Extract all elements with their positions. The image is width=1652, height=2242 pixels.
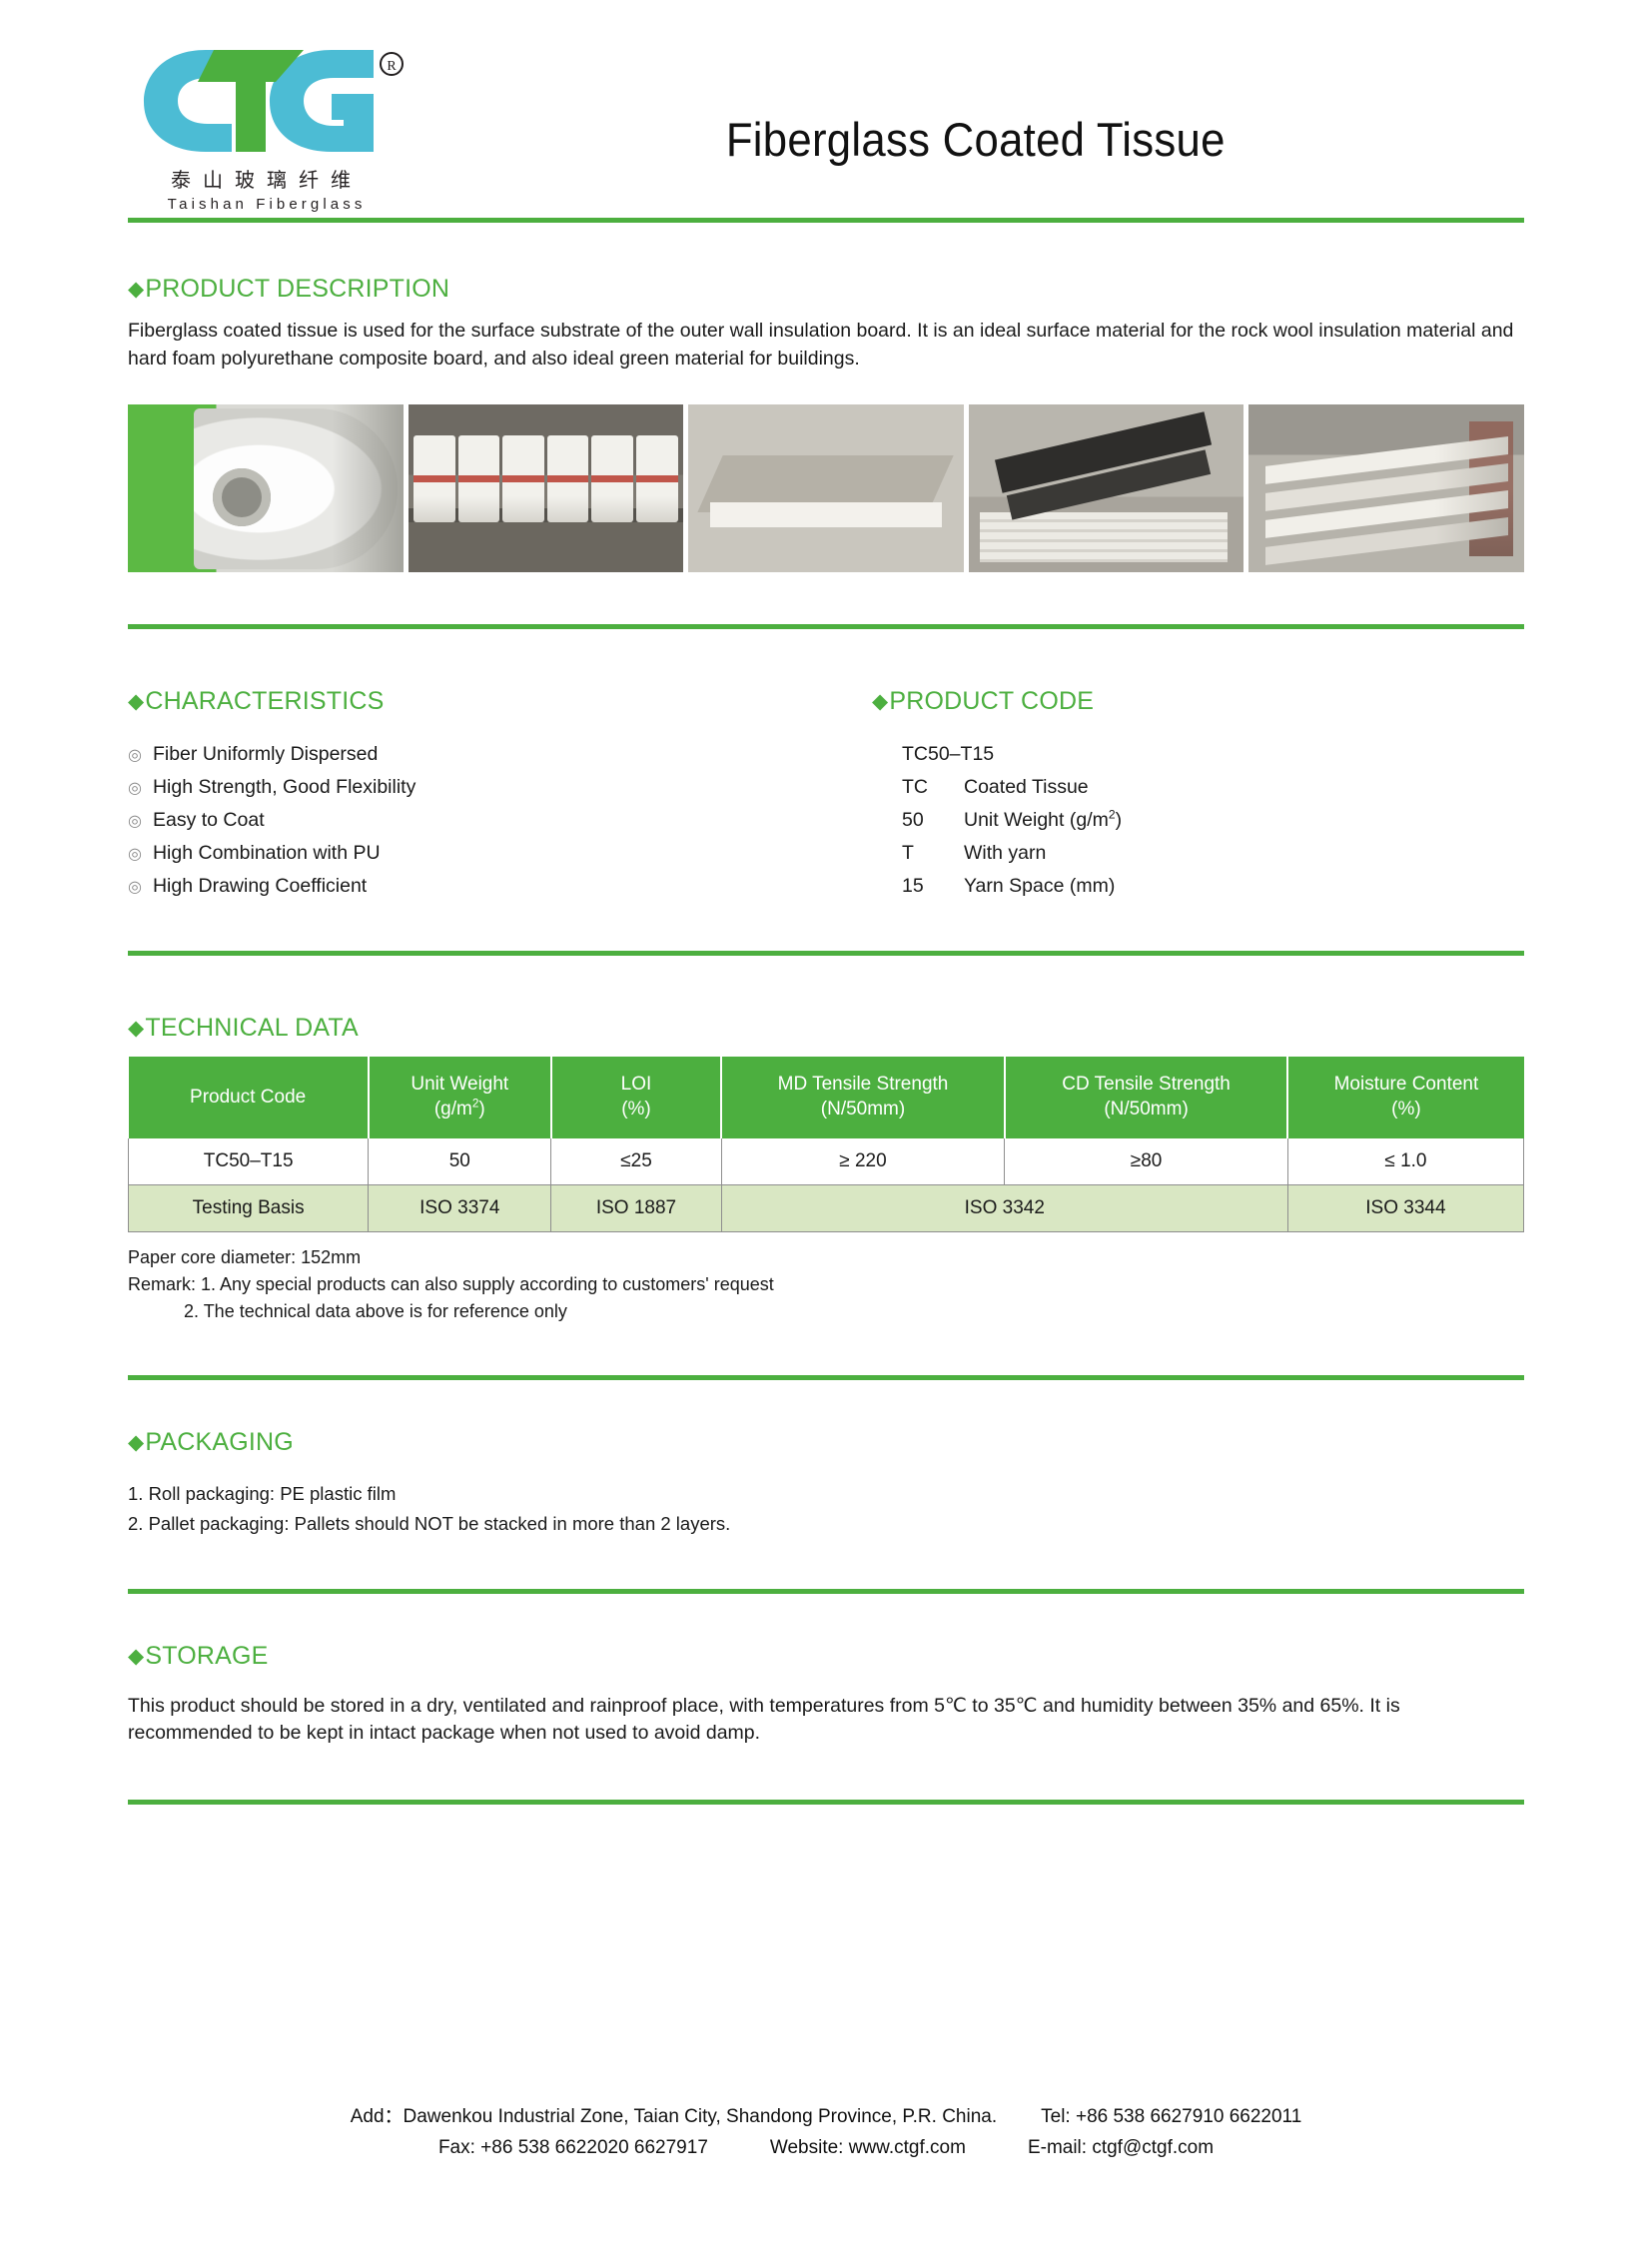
storage-text: This product should be stored in a dry, … bbox=[128, 1693, 1524, 1748]
cell-basis-loi: ISO 1887 bbox=[551, 1184, 721, 1231]
list-item: T With yarn bbox=[902, 837, 1524, 870]
code-meaning: With yarn bbox=[964, 837, 1046, 870]
fax-text: Fax: +86 538 6622020 6627917 bbox=[438, 2133, 708, 2164]
warehouse-rolls-photo bbox=[409, 404, 684, 572]
ring-bullet-icon: ◎ bbox=[128, 813, 142, 829]
header-divider bbox=[128, 218, 1524, 223]
ring-bullet-icon: ◎ bbox=[128, 846, 142, 862]
ctg-logo-icon: R bbox=[136, 42, 408, 160]
stacked-panels-photo bbox=[1248, 404, 1524, 572]
column-header-unit-weight: Unit Weight(g/m2) bbox=[369, 1057, 551, 1137]
column-header-product-code: Product Code bbox=[129, 1057, 369, 1137]
product-description-heading: ◆ PRODUCT DESCRIPTION bbox=[128, 275, 1524, 304]
page-title: Fiberglass Coated Tissue bbox=[726, 112, 1226, 167]
address-label: Add： bbox=[351, 2102, 404, 2133]
technical-data-notes: Paper core diameter: 152mm Remark: 1. An… bbox=[128, 1244, 1524, 1325]
column-header-moisture: Moisture Content(%) bbox=[1287, 1057, 1523, 1137]
list-item-label: Fiber Uniformly Dispersed bbox=[153, 738, 378, 771]
cell-basis-tensile: ISO 3342 bbox=[721, 1184, 1287, 1231]
storage-divider bbox=[128, 1800, 1524, 1805]
characteristics-list: ◎ Fiber Uniformly Dispersed ◎ High Stren… bbox=[128, 738, 872, 903]
diamond-bullet-icon: ◆ bbox=[872, 691, 888, 712]
packaging-section: ◆ PACKAGING 1. Roll packaging: PE plasti… bbox=[128, 1428, 1524, 1539]
diamond-bullet-icon: ◆ bbox=[128, 1432, 144, 1453]
list-item-label: Easy to Coat bbox=[153, 804, 265, 837]
characteristics-and-code: ◆ CHARACTERISTICS ◎ Fiber Uniformly Disp… bbox=[128, 687, 1524, 903]
section-title-text: PRODUCT CODE bbox=[889, 687, 1094, 716]
list-item-label: High Strength, Good Flexibility bbox=[153, 771, 415, 804]
column-header-md-tensile: MD Tensile Strength(N/50mm) bbox=[721, 1057, 1005, 1137]
logo-chinese-name: 泰山玻璃纤维 bbox=[136, 164, 398, 193]
list-item-label: High Drawing Coefficient bbox=[153, 870, 367, 903]
company-logo: R 泰山玻璃纤维 Taishan Fiberglass bbox=[128, 42, 427, 213]
logo-english-name: Taishan Fiberglass bbox=[136, 196, 398, 213]
storage-section: ◆ STORAGE This product should be stored … bbox=[128, 1642, 1524, 1748]
list-item: ◎ Easy to Coat bbox=[128, 804, 872, 837]
characteristics-heading: ◆ CHARACTERISTICS bbox=[128, 687, 872, 716]
diamond-bullet-icon: ◆ bbox=[128, 279, 144, 300]
dark-panel-photo bbox=[969, 404, 1244, 572]
email-text[interactable]: E-mail: ctgf@ctgf.com bbox=[1028, 2133, 1214, 2164]
cell-testing-basis-label: Testing Basis bbox=[129, 1184, 369, 1231]
cell-moisture: ≤ 1.0 bbox=[1287, 1138, 1523, 1185]
code-key: TC bbox=[902, 771, 964, 804]
footer-line-1: Add： Dawenkou Industrial Zone, Taian Cit… bbox=[128, 2102, 1524, 2133]
code-meaning: Unit Weight (g/m2) bbox=[964, 804, 1122, 837]
svg-text:R: R bbox=[387, 59, 397, 74]
ring-bullet-icon: ◎ bbox=[128, 879, 142, 895]
ring-bullet-icon: ◎ bbox=[128, 747, 142, 763]
column-header-loi: LOI(%) bbox=[551, 1057, 721, 1137]
packaging-line-2: 2. Pallet packaging: Pallets should NOT … bbox=[128, 1509, 1524, 1539]
note-remark-1: Remark: 1. Any special products can also… bbox=[128, 1271, 1524, 1298]
section-title-text: CHARACTERISTICS bbox=[145, 687, 384, 716]
tissue-roll-photo bbox=[128, 404, 404, 572]
description-divider bbox=[128, 624, 1524, 629]
section-title-text: PACKAGING bbox=[145, 1428, 294, 1457]
code-key: 50 bbox=[902, 804, 964, 837]
code-meaning: Yarn Space (mm) bbox=[964, 870, 1115, 903]
footer-line-2: Fax: +86 538 6622020 6627917 Website: ww… bbox=[128, 2133, 1524, 2164]
list-item: 50 Unit Weight (g/m2) bbox=[902, 804, 1524, 837]
cell-basis-moisture: ISO 3344 bbox=[1287, 1184, 1523, 1231]
list-item-label: High Combination with PU bbox=[153, 837, 381, 870]
technical-data-table: Product Code Unit Weight(g/m2) LOI(%) MD… bbox=[128, 1057, 1524, 1231]
cell-md-tensile: ≥ 220 bbox=[721, 1138, 1005, 1185]
characteristics-divider bbox=[128, 951, 1524, 956]
section-title-text: PRODUCT DESCRIPTION bbox=[145, 275, 449, 304]
packaging-divider bbox=[128, 1589, 1524, 1594]
cell-unit-weight: 50 bbox=[369, 1138, 551, 1185]
list-item: ◎ Fiber Uniformly Dispersed bbox=[128, 738, 872, 771]
diamond-bullet-icon: ◆ bbox=[128, 691, 144, 712]
technical-data-section: ◆ TECHNICAL DATA Product Code Unit Weigh… bbox=[128, 1014, 1524, 1324]
product-code-legend: TC Coated Tissue 50 Unit Weight (g/m2) T… bbox=[872, 771, 1524, 903]
table-header-row: Product Code Unit Weight(g/m2) LOI(%) MD… bbox=[129, 1057, 1524, 1137]
section-title-text: STORAGE bbox=[145, 1642, 268, 1671]
note-remark-2: 2. The technical data above is for refer… bbox=[128, 1298, 1524, 1325]
list-item: ◎ High Strength, Good Flexibility bbox=[128, 771, 872, 804]
list-item: TC Coated Tissue bbox=[902, 771, 1524, 804]
page-header: R 泰山玻璃纤维 Taishan Fiberglass Fiberglass C… bbox=[128, 0, 1524, 218]
website-text[interactable]: Website: www.ctgf.com bbox=[770, 2133, 966, 2164]
ring-bullet-icon: ◎ bbox=[128, 780, 142, 796]
diamond-bullet-icon: ◆ bbox=[128, 1646, 144, 1667]
cell-product-code: TC50–T15 bbox=[129, 1138, 369, 1185]
table-row: Testing Basis ISO 3374 ISO 1887 ISO 3342… bbox=[129, 1184, 1524, 1231]
diamond-bullet-icon: ◆ bbox=[128, 1018, 144, 1039]
packaging-heading: ◆ PACKAGING bbox=[128, 1428, 1524, 1457]
table-row: TC50–T15 50 ≤25 ≥ 220 ≥80 ≤ 1.0 bbox=[129, 1138, 1524, 1185]
code-meaning: Coated Tissue bbox=[964, 771, 1089, 804]
code-key: T bbox=[902, 837, 964, 870]
product-description-text: Fiberglass coated tissue is used for the… bbox=[128, 318, 1524, 373]
address-text: Dawenkou Industrial Zone, Taian City, Sh… bbox=[404, 2102, 998, 2133]
characteristics-section: ◆ CHARACTERISTICS ◎ Fiber Uniformly Disp… bbox=[128, 687, 872, 903]
cell-loi: ≤25 bbox=[551, 1138, 721, 1185]
telephone-text: Tel: +86 538 6627910 6622011 bbox=[1041, 2102, 1301, 2133]
product-code-heading: ◆ PRODUCT CODE bbox=[872, 687, 1524, 716]
storage-heading: ◆ STORAGE bbox=[128, 1642, 1524, 1671]
product-code-section: ◆ PRODUCT CODE TC50–T15 TC Coated Tissue… bbox=[872, 687, 1524, 903]
cell-basis-unit-weight: ISO 3374 bbox=[369, 1184, 551, 1231]
section-title-text: TECHNICAL DATA bbox=[145, 1014, 358, 1043]
product-photo-strip bbox=[128, 404, 1524, 572]
technical-data-divider bbox=[128, 1375, 1524, 1380]
datasheet-page: R 泰山玻璃纤维 Taishan Fiberglass Fiberglass C… bbox=[0, 0, 1652, 2242]
packaging-line-1: 1. Roll packaging: PE plastic film bbox=[128, 1479, 1524, 1509]
product-description-section: ◆ PRODUCT DESCRIPTION Fiberglass coated … bbox=[128, 275, 1524, 373]
cell-cd-tensile: ≥80 bbox=[1005, 1138, 1288, 1185]
technical-data-heading: ◆ TECHNICAL DATA bbox=[128, 1014, 1524, 1043]
page-footer: Add： Dawenkou Industrial Zone, Taian Cit… bbox=[128, 2102, 1524, 2164]
column-header-cd-tensile: CD Tensile Strength(N/50mm) bbox=[1005, 1057, 1288, 1137]
product-code-value: TC50–T15 bbox=[872, 738, 1524, 771]
list-item: ◎ High Combination with PU bbox=[128, 837, 872, 870]
list-item: 15 Yarn Space (mm) bbox=[902, 870, 1524, 903]
insulation-board-photo bbox=[688, 404, 964, 572]
code-key: 15 bbox=[902, 870, 964, 903]
note-paper-core: Paper core diameter: 152mm bbox=[128, 1244, 1524, 1271]
list-item: ◎ High Drawing Coefficient bbox=[128, 870, 872, 903]
